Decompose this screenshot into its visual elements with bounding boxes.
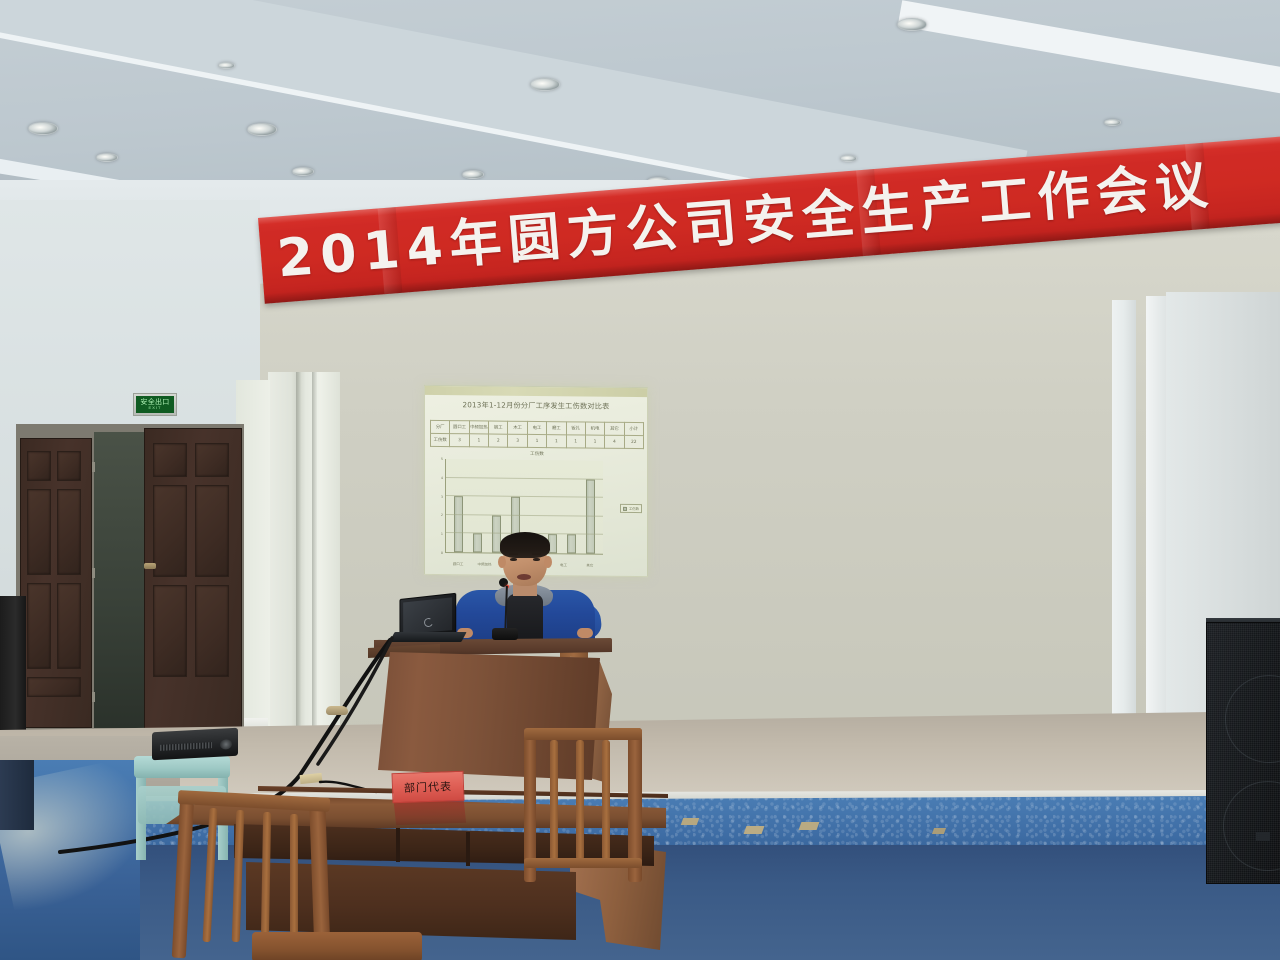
door-panel xyxy=(153,443,187,477)
conference-room-photo: 2014年圆方公司安全生产工作会议 2013年1-12月份分厂工序发生工伤数对比… xyxy=(0,0,1280,960)
slide-table-cell: 4 xyxy=(605,435,624,448)
presenter-mouth xyxy=(517,574,531,580)
wall-pilaster xyxy=(268,372,340,760)
presenter-eyebrow-left xyxy=(509,553,518,555)
door-panel xyxy=(57,451,81,481)
chart-title: 工伤数 xyxy=(431,450,643,458)
door-leaf-closed[interactable] xyxy=(144,428,242,732)
chair-back-slat xyxy=(290,814,298,942)
exit-sign-face: 安全出口 EXIT xyxy=(136,396,174,413)
presenter-ear-right xyxy=(544,556,552,568)
chart-y-tick-label: 5 xyxy=(431,457,443,461)
door-panel xyxy=(195,443,229,477)
slide-table-cell: 工伤数 xyxy=(431,433,450,446)
slide-top-strip xyxy=(425,386,647,397)
ceiling-downlight xyxy=(897,18,927,31)
slide-table-cell: 1 xyxy=(547,435,566,448)
presenter-ear-left xyxy=(498,556,506,568)
door-hinge xyxy=(92,692,95,702)
right-column-far xyxy=(1146,296,1166,766)
stool-seat xyxy=(134,756,230,778)
chart-y-tick-label: 3 xyxy=(431,494,443,498)
ceiling-downlight xyxy=(247,123,277,136)
chart-y-tick-label: 4 xyxy=(431,476,443,480)
slide-table-cell: 3 xyxy=(508,434,527,447)
projector-vent xyxy=(160,742,212,751)
stage-floor-plate xyxy=(799,822,820,830)
stage-floor-plate xyxy=(932,828,946,834)
slide-table-header-cell: 磨工 xyxy=(547,422,566,435)
dark-cabinet xyxy=(0,596,26,746)
tent-card-text: 部门代表 xyxy=(404,778,453,796)
doorway-opening xyxy=(94,432,144,728)
slide-table-row: 工伤数31231111422 xyxy=(431,433,644,448)
ceiling-downlight xyxy=(840,155,857,162)
chair-top-rail xyxy=(524,728,642,740)
ceiling-downlight xyxy=(292,167,314,176)
door-panel xyxy=(195,585,229,677)
slide-table-header-cell: 机电 xyxy=(585,422,604,435)
door-panel xyxy=(195,485,229,577)
ceiling-downlight xyxy=(530,78,560,91)
slide-table-cell: 2 xyxy=(489,434,508,447)
slide-table-cell: 1 xyxy=(566,435,585,448)
projector xyxy=(152,728,238,761)
slide-table-cell: 1 xyxy=(585,435,604,448)
floor-shoe xyxy=(326,706,348,715)
chair-left-foreground[interactable] xyxy=(176,790,356,960)
slide-table-header-cell: 木工 xyxy=(508,421,527,434)
chair-back-slat xyxy=(232,810,245,942)
ceiling-downlight xyxy=(1104,119,1121,126)
chair-back-slat xyxy=(576,740,584,860)
slide-table-cell: 1 xyxy=(527,434,546,447)
slide-table-header-cell: 圆口工 xyxy=(450,421,469,434)
tent-card-face: 部门代表 xyxy=(391,771,464,803)
door-panel xyxy=(27,451,51,481)
laptop-keyboard-base[interactable] xyxy=(389,632,466,642)
right-column-near xyxy=(1112,300,1136,760)
chart-legend: 工伤数 xyxy=(620,504,642,513)
slide-table-cell: 22 xyxy=(624,435,643,448)
chair-back-post xyxy=(172,796,194,959)
door-hinge xyxy=(92,568,95,578)
chart-y-tick-label: 1 xyxy=(431,532,443,536)
ceiling-downlight xyxy=(462,170,484,179)
slide-table-header-cell: 中频加热 xyxy=(469,421,488,434)
table-shelf-divider xyxy=(466,832,470,866)
door-panel xyxy=(27,489,51,575)
door-handle[interactable] xyxy=(144,563,156,569)
chair-top-rail xyxy=(178,790,331,812)
speaker-brand-badge xyxy=(1256,832,1270,841)
ceiling-downlight xyxy=(218,62,235,69)
presenter-hand-right xyxy=(577,628,593,638)
door-panel xyxy=(153,585,187,677)
door-panel xyxy=(57,489,81,575)
department-representative-card: 部门代表 xyxy=(391,771,464,803)
chair-seat xyxy=(252,932,422,960)
door-panel xyxy=(27,583,51,669)
slide-table-header-cell: 锻工 xyxy=(489,421,508,434)
presenter-hair xyxy=(500,532,550,558)
slide-table-header-cell: 电工 xyxy=(527,421,546,434)
speaker-driver-lower xyxy=(1223,781,1280,871)
door-panel xyxy=(57,583,81,669)
slide-table-cell: 3 xyxy=(450,434,469,447)
chair-back-slat xyxy=(202,808,217,942)
table-shelf-divider xyxy=(396,828,400,862)
emergency-exit-sign: 安全出口 EXIT xyxy=(133,393,177,416)
slide-table-header-cell: 小计 xyxy=(624,422,643,435)
presenter-eye-right xyxy=(533,558,540,561)
chair-back-slat xyxy=(602,740,610,860)
slide-table-header-cell: 钣扎 xyxy=(566,422,585,435)
chart-y-tick-label: 2 xyxy=(431,513,443,517)
chart-y-tick-label: 0 xyxy=(431,551,443,555)
ceiling-downlight xyxy=(28,122,58,135)
slide-data-table: 分厂圆口工中频加热锻工木工电工磨工钣扎机电其它小计工伤数31231111422 xyxy=(430,420,644,449)
door-leaf-open[interactable] xyxy=(20,438,92,728)
chair-bottom-rail xyxy=(524,858,642,868)
pilaster-groove xyxy=(296,372,301,760)
pilaster-groove xyxy=(312,372,317,760)
slide-table-header-cell: 分厂 xyxy=(431,420,450,433)
speaker-driver-upper xyxy=(1225,675,1280,763)
stage-floor-plate xyxy=(744,826,765,834)
door-hinge xyxy=(92,462,95,472)
microphone-base[interactable] xyxy=(492,628,518,640)
presenter-eyebrow-right xyxy=(532,553,541,555)
exit-sign-english: EXIT xyxy=(149,406,162,410)
slide-table-header-cell: 其它 xyxy=(605,422,624,435)
presenter xyxy=(455,534,595,644)
chair-right-foreground[interactable] xyxy=(524,728,644,908)
slide-title: 2013年1-12月份分厂工序发生工伤数对比表 xyxy=(425,400,647,412)
slide-table-cell: 1 xyxy=(469,434,488,447)
projector-lens xyxy=(220,739,232,750)
floor-box-left xyxy=(0,760,34,830)
chair-back-slat xyxy=(550,740,558,860)
pa-speaker xyxy=(1206,622,1280,884)
stage-floor-plate xyxy=(681,818,700,825)
ceiling-downlight xyxy=(96,153,118,162)
door-panel xyxy=(27,677,81,697)
presenter-eye-left xyxy=(510,558,517,561)
chair-back-slat xyxy=(261,812,271,942)
legend-swatch xyxy=(623,506,627,510)
door-panel xyxy=(153,485,187,577)
legend-label: 工伤数 xyxy=(629,506,639,511)
